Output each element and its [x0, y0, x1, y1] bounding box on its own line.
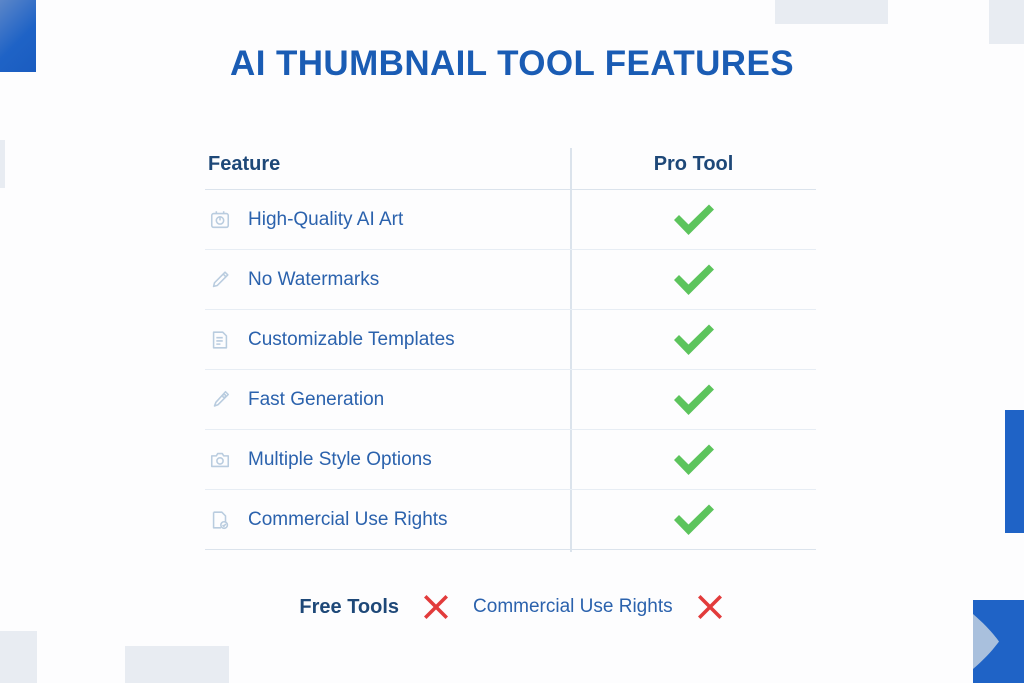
footer-note: Free Tools Commercial Use Rights — [0, 592, 1024, 622]
pro-tool-cell — [571, 321, 816, 359]
feature-label: High-Quality AI Art — [248, 209, 403, 231]
feature-cell: Customizable Templates — [205, 328, 571, 352]
check-icon — [671, 501, 717, 539]
feature-cell: No Watermarks — [205, 268, 571, 292]
feature-cell: Fast Generation — [205, 388, 571, 412]
pro-tool-cell — [571, 381, 816, 419]
table-row[interactable]: Fast Generation — [205, 370, 816, 430]
feature-label: Multiple Style Options — [248, 449, 432, 471]
pro-tool-cell — [571, 201, 816, 239]
decor-right-edge-bar — [1005, 410, 1024, 533]
column-header-pro-tool: Pro Tool — [571, 153, 816, 176]
column-header-feature: Feature — [205, 153, 571, 176]
feature-label: Customizable Templates — [248, 329, 455, 351]
aperture-camera-icon — [208, 208, 232, 232]
table-row[interactable]: High-Quality AI Art — [205, 190, 816, 250]
document-lines-icon — [208, 328, 232, 352]
check-icon — [671, 381, 717, 419]
camera-icon — [208, 448, 232, 472]
commercial-use-rights-label: Commercial Use Rights — [473, 596, 673, 618]
table-row[interactable]: Commercial Use Rights — [205, 490, 816, 550]
cross-icon — [695, 592, 725, 622]
feature-label: Commercial Use Rights — [248, 509, 448, 531]
feature-cell: Multiple Style Options — [205, 448, 571, 472]
cross-icon — [421, 592, 451, 622]
certificate-icon — [208, 508, 232, 532]
feature-label: No Watermarks — [248, 269, 379, 291]
feature-cell: High-Quality AI Art — [205, 208, 571, 232]
decor-bottom-left-block — [0, 631, 37, 683]
pro-tool-cell — [571, 501, 816, 539]
check-icon — [671, 261, 717, 299]
pen-nib-icon — [208, 388, 232, 412]
pen-icon — [208, 268, 232, 292]
feature-cell: Commercial Use Rights — [205, 508, 571, 532]
play-triangle-icon — [973, 614, 999, 669]
table-row[interactable]: Multiple Style Options — [205, 430, 816, 490]
table-row[interactable]: Customizable Templates — [205, 310, 816, 370]
table-header-row: Feature Pro Tool — [205, 140, 816, 190]
table-row[interactable]: No Watermarks — [205, 250, 816, 310]
check-icon — [671, 441, 717, 479]
feature-comparison-table: Feature Pro Tool High-Quality AI Art — [205, 140, 816, 550]
decor-top-right-bar — [775, 0, 888, 24]
decor-top-right-corner-block — [989, 0, 1024, 44]
pro-tool-cell — [571, 441, 816, 479]
decor-bottom-left-bar — [125, 646, 229, 683]
check-icon — [671, 201, 717, 239]
page-title: AI THUMBNAIL TOOL FEATURES — [0, 44, 1024, 84]
decor-left-edge-strip — [0, 140, 5, 188]
check-icon — [671, 321, 717, 359]
feature-label: Fast Generation — [248, 389, 384, 411]
free-tools-label: Free Tools — [299, 596, 399, 619]
pro-tool-cell — [571, 261, 816, 299]
